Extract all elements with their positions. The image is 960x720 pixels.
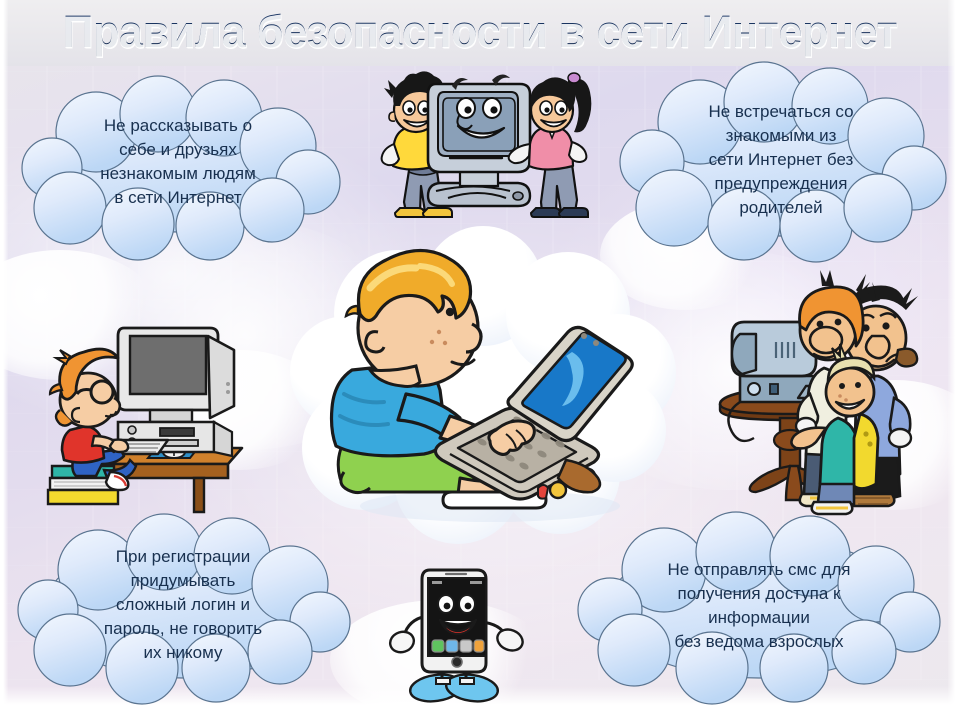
family-at-computer-illustration: [714, 258, 946, 520]
poster-canvas: Правила безопасности в сети Интернет Пра…: [0, 0, 960, 720]
boy-at-desktop-computer-illustration: [44, 280, 274, 510]
boy-with-laptop-illustration: [300, 244, 676, 526]
rule-cloud-no-personal-info[interactable]: Не рассказывать о себе и друзьях незнако…: [22, 76, 334, 248]
rule-cloud-strong-password[interactable]: При регистрации придумывать сложный логи…: [18, 514, 348, 696]
smiling-smartphone-illustration: [384, 560, 534, 710]
left-edge-band: [0, 0, 8, 720]
rule-cloud-no-sms[interactable]: Не отправлять смс для получения доступа …: [578, 516, 940, 696]
right-edge-band: [948, 0, 960, 720]
smiling-computer-with-two-kids-illustration: [352, 58, 604, 230]
rule-cloud-no-meetings[interactable]: Не встречаться со знакомыми из сети Инте…: [622, 62, 940, 258]
page-title: Правила безопасности в сети Интернет: [24, 6, 936, 58]
